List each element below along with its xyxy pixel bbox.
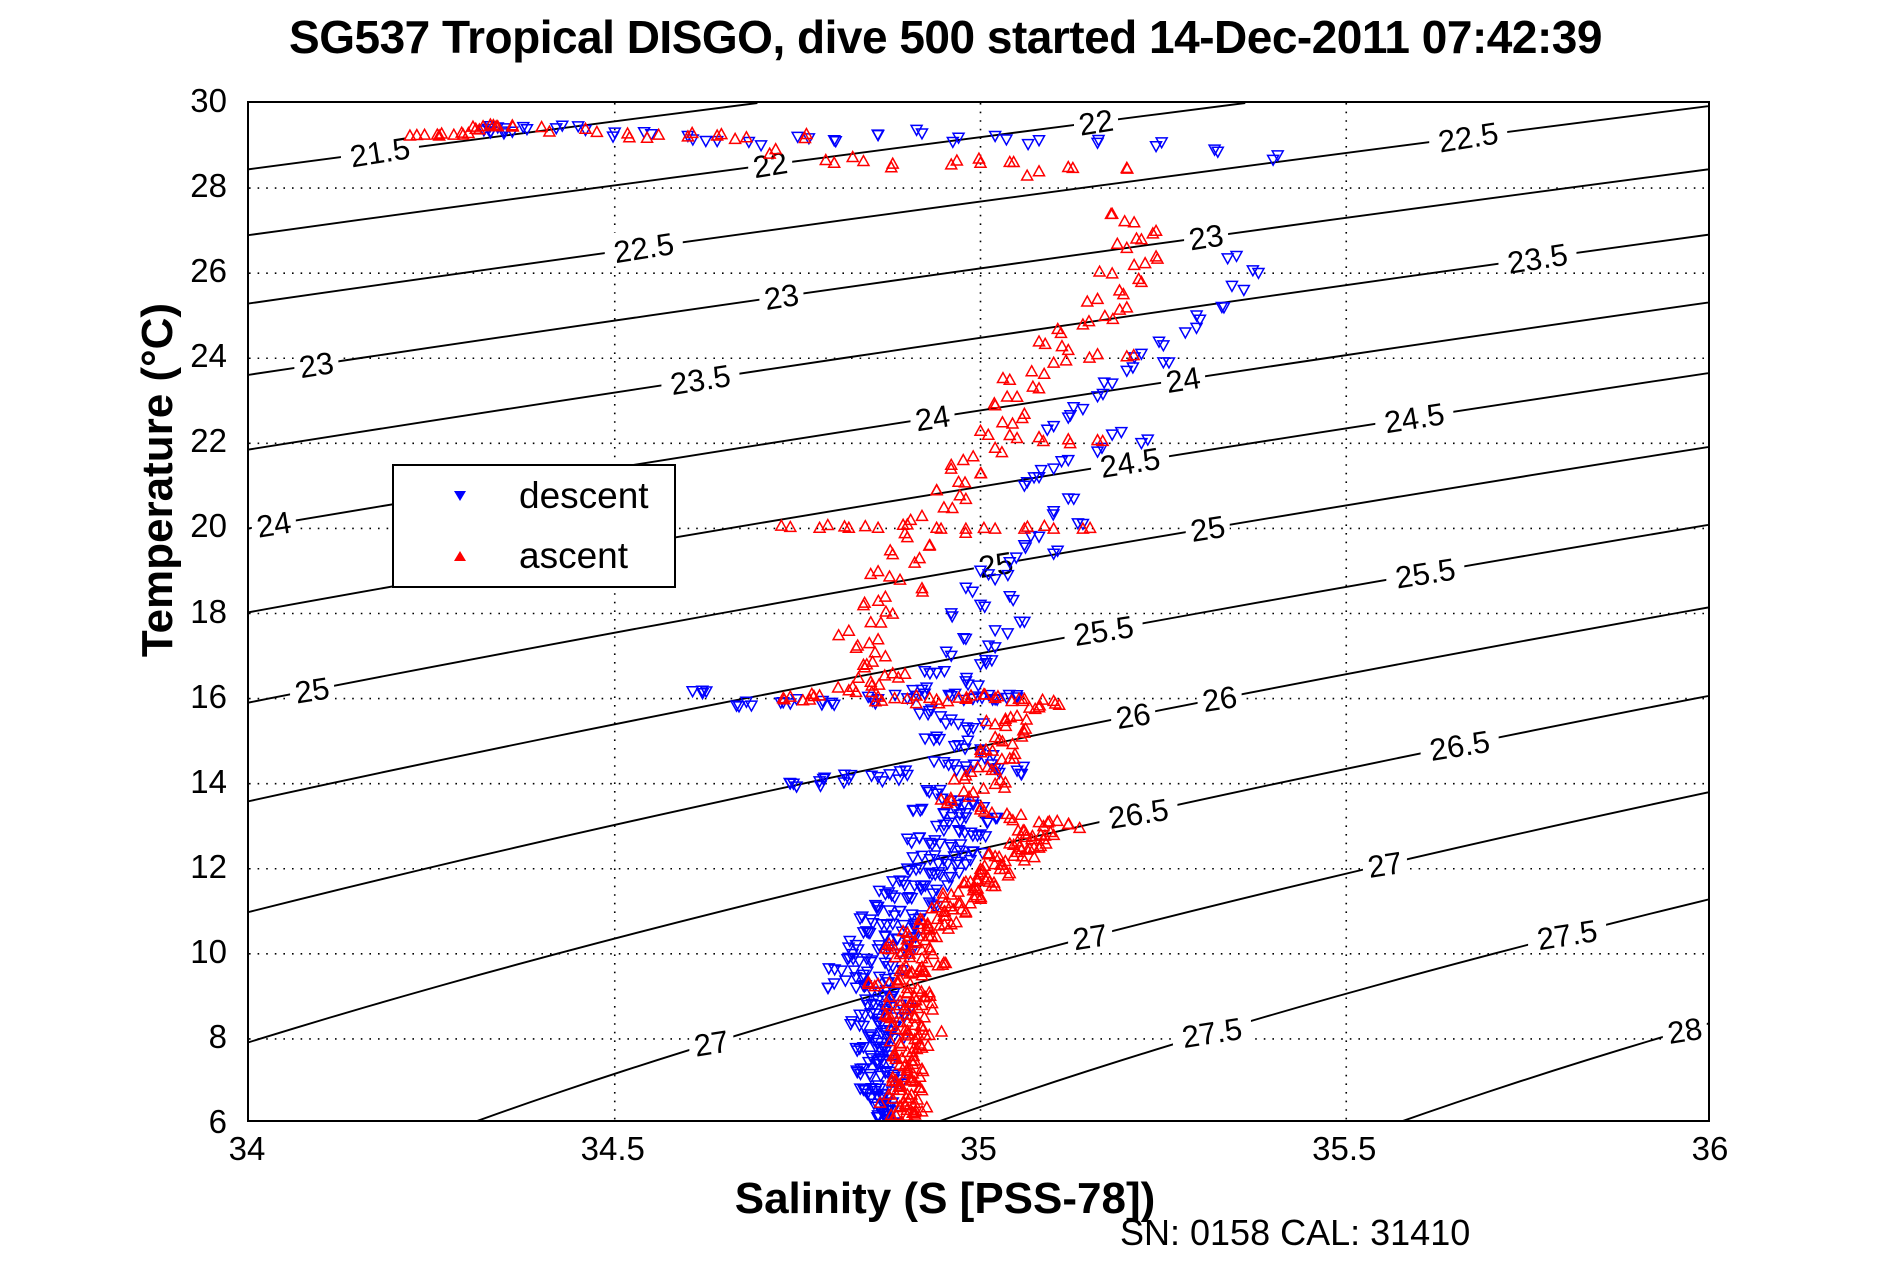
ascent-data-point (1039, 520, 1050, 530)
ascent-data-point (983, 429, 994, 439)
descent-data-point (929, 757, 940, 767)
ascent-data-point (1119, 216, 1130, 226)
ascent-data-point (990, 523, 1001, 533)
ascent-data-point (1140, 258, 1151, 268)
density-contour-line (249, 103, 1708, 1120)
density-contour-line (932, 103, 1708, 1120)
ascent-data-point (958, 455, 969, 465)
ascent-marker-icon (454, 551, 466, 561)
descent-data-point (1222, 254, 1233, 264)
ascent-data-point (880, 606, 891, 616)
descent-data-point (982, 818, 993, 828)
ascent-data-point (1034, 336, 1045, 346)
density-contour-line (249, 103, 1708, 1120)
ascent-data-point (1061, 355, 1072, 365)
contour-label: 25 (1188, 509, 1228, 549)
x-tick-label: 36 (1630, 1130, 1790, 1168)
y-tick-label: 10 (107, 933, 227, 971)
descent-data-point (1238, 286, 1249, 296)
y-axis-label: Temperature (°C) (133, 270, 183, 690)
contour-label: 25 (292, 671, 332, 711)
x-tick-label: 35.5 (1264, 1130, 1424, 1168)
descent-data-point (967, 587, 978, 597)
ascent-data-point (833, 682, 844, 692)
descent-data-point (935, 712, 946, 722)
y-tick-label: 14 (107, 763, 227, 801)
descent-data-point (1001, 135, 1012, 145)
ascent-data-point (949, 774, 960, 784)
ascent-data-point (880, 651, 891, 661)
ascent-data-point (591, 126, 602, 136)
ascent-data-point (947, 503, 958, 513)
descent-data-point (1023, 140, 1034, 150)
contour-label: 26 (1200, 679, 1240, 719)
legend-label-descent: descent (519, 475, 649, 517)
x-tick-label: 35 (899, 1130, 1059, 1168)
descent-data-point (1226, 281, 1237, 291)
descent-data-point (1180, 328, 1191, 338)
page-title: SG537 Tropical DISGO, dive 500 started 1… (0, 10, 1891, 64)
ascent-data-point (858, 156, 869, 166)
ascent-data-point (1063, 818, 1074, 828)
descent-data-point (700, 136, 711, 146)
chart-plot-area: 21.52222.52323.52424.52525.52626.52727.5… (247, 101, 1710, 1122)
chart-canvas: 21.52222.52323.52424.52525.52626.52727.5… (249, 103, 1708, 1120)
descent-data-point (1231, 251, 1242, 261)
ascent-data-point (1034, 166, 1045, 176)
ascent-data-point (924, 540, 935, 550)
density-contour-line (249, 103, 1245, 1120)
x-tick-label: 34.5 (533, 1130, 693, 1168)
ascent-data-point (884, 571, 895, 581)
descent-data-point (1077, 405, 1088, 415)
ascent-data-point (1000, 777, 1011, 787)
legend-item-ascent[interactable]: ascent (394, 526, 674, 586)
ascent-data-point (1112, 238, 1123, 248)
descent-data-point (687, 687, 698, 697)
ascent-data-point (1094, 266, 1105, 276)
ascent-data-point (951, 155, 962, 165)
contour-label: 27 (1070, 917, 1110, 957)
descent-data-point (1068, 494, 1079, 504)
contour-label: 23 (1186, 218, 1226, 258)
contour-label: 26 (1113, 696, 1153, 736)
ascent-data-point (1015, 809, 1026, 819)
sensor-cal-annotation: SN: 0158 CAL: 31410 (1120, 1212, 1470, 1254)
ascent-data-point (978, 522, 989, 532)
ascent-data-point (875, 617, 886, 627)
ascent-data-point (730, 133, 741, 143)
ascent-data-point (860, 521, 871, 531)
ascent-data-point (1039, 368, 1050, 378)
descent-data-point (1036, 466, 1047, 476)
contour-label: 22 (750, 145, 790, 185)
ascent-data-point (1118, 289, 1129, 299)
chart-legend[interactable]: descent ascent (392, 464, 676, 588)
chart-clip: 21.52222.52323.52424.52525.52626.52727.5… (249, 103, 1708, 1120)
descent-data-point (914, 709, 925, 719)
ascent-data-point (958, 786, 969, 796)
descent-data-point (990, 626, 1001, 636)
descent-marker-icon (454, 491, 466, 501)
ascent-data-point (1107, 268, 1118, 278)
ascent-data-point (776, 520, 787, 530)
ascent-data-point (1012, 391, 1023, 401)
ascent-data-point (1092, 349, 1103, 359)
ascent-data-point (1056, 341, 1067, 351)
descent-data-point (1048, 464, 1059, 474)
contour-label: 22 (1076, 103, 1116, 143)
contour-label: 28 (1665, 1011, 1705, 1051)
ascent-data-point (1012, 433, 1023, 443)
contour-label: 27 (692, 1024, 732, 1064)
legend-item-descent[interactable]: descent (394, 466, 674, 526)
ascent-data-point (936, 1026, 947, 1036)
ascent-data-point (1026, 366, 1037, 376)
descent-data-point (1034, 136, 1045, 146)
ascent-data-point (978, 783, 989, 793)
density-contour-line (249, 103, 1708, 1120)
ascent-data-point (1147, 228, 1158, 238)
ascent-data-point (873, 522, 884, 532)
density-contour-line (249, 103, 1708, 1120)
ascent-data-point (1002, 391, 1013, 401)
descent-data-point (951, 766, 962, 776)
descent-data-point (1042, 425, 1053, 435)
ascent-data-point (916, 510, 927, 520)
y-tick-label: 8 (107, 1018, 227, 1056)
ascent-data-point (1052, 815, 1063, 825)
density-contour-line (249, 103, 1708, 1120)
density-contour-line (249, 103, 1708, 1120)
contour-label: 27 (1365, 845, 1405, 885)
ascent-data-point (997, 417, 1008, 427)
descent-data-point (854, 1021, 865, 1031)
density-contour-line (249, 103, 1708, 1120)
contour-label: 24 (913, 398, 953, 438)
density-contour-line (249, 103, 1708, 1120)
ascent-data-point (1082, 296, 1093, 306)
ascent-data-point (1129, 259, 1140, 269)
ascent-data-point (833, 630, 844, 640)
ascent-data-point (997, 373, 1008, 383)
descent-data-point (880, 958, 891, 968)
ascent-data-point (873, 634, 884, 644)
density-contour-line (249, 103, 1708, 1120)
descent-data-point (1116, 428, 1127, 438)
contour-label: 23 (297, 345, 337, 385)
descent-data-point (1191, 323, 1202, 333)
ascent-data-point (843, 625, 854, 635)
ascent-data-point (1022, 170, 1033, 180)
y-tick-label: 12 (107, 848, 227, 886)
descent-data-point (1002, 629, 1013, 639)
descent-data-point (840, 976, 851, 986)
y-tick-label: 30 (107, 82, 227, 120)
contour-label: 23 (762, 277, 802, 317)
y-tick-label: 28 (107, 167, 227, 205)
ascent-data-point (822, 520, 833, 530)
descent-data-point (836, 966, 847, 976)
descent-data-point (1107, 430, 1118, 440)
descent-data-point (983, 641, 994, 651)
ascent-data-point (865, 617, 876, 627)
ascent-data-point (968, 451, 979, 461)
contour-label: 24 (254, 505, 294, 545)
ascent-data-point (895, 574, 906, 584)
x-tick-label: 34 (167, 1130, 327, 1168)
descent-data-point (907, 853, 918, 863)
descent-data-point (973, 681, 984, 691)
ascent-data-point (1092, 293, 1103, 303)
legend-label-ascent: ascent (519, 535, 628, 577)
descent-data-point (822, 983, 833, 993)
contour-label: 25 (976, 545, 1016, 585)
descent-data-point (947, 137, 958, 147)
